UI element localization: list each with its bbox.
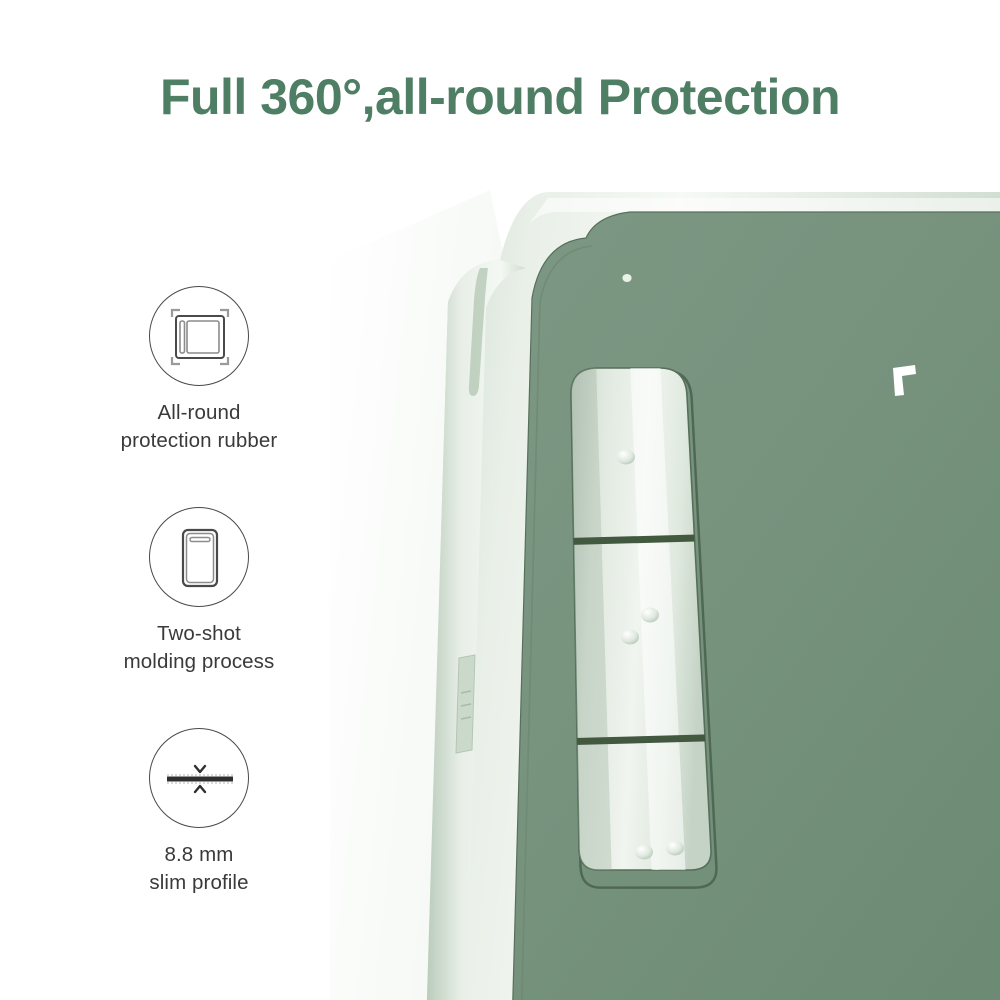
- tablet-portrait-icon: [149, 507, 249, 607]
- page-title: Full 360°,all-round Protection: [0, 68, 1000, 126]
- chevron-up-icon: [195, 786, 205, 792]
- camera-lens-3a: [635, 845, 653, 860]
- device-outer-shell: [183, 530, 217, 586]
- feature-list: All-round protection rubber Two-shot mol…: [88, 286, 310, 897]
- camera-lens-3b: [666, 841, 684, 856]
- camera-lens-2a: [641, 608, 659, 623]
- feature-label: 8.8 mm slim profile: [88, 841, 310, 897]
- thickness-bar: [167, 777, 233, 782]
- feature-label: All-round protection rubber: [88, 399, 310, 455]
- volume-button-cutout: [456, 655, 475, 753]
- feature-item-slim-profile: 8.8 mm slim profile: [88, 728, 310, 897]
- device-side-bar: [180, 321, 185, 353]
- feature-item-all-round-protection: All-round protection rubber: [88, 286, 310, 455]
- product-image: [330, 150, 1000, 1000]
- tablet-landscape-brackets-icon: [149, 286, 249, 386]
- feature-label-line2: molding process: [88, 648, 310, 676]
- device-speaker-slot: [190, 538, 210, 542]
- feature-item-two-shot-molding: Two-shot molding process: [88, 507, 310, 676]
- device-screen: [187, 321, 219, 353]
- camera-lens-1: [617, 450, 635, 465]
- feature-label-line1: Two-shot: [157, 622, 241, 645]
- slim-profile-thickness-icon: [149, 728, 249, 828]
- sensor-dot: [622, 274, 631, 282]
- feature-label-line2: protection rubber: [88, 427, 310, 455]
- chevron-down-icon: [195, 766, 205, 772]
- tablet-case-render: [330, 150, 1000, 1000]
- feature-label: Two-shot molding process: [88, 620, 310, 676]
- feature-label-line1: 8.8 mm: [165, 843, 234, 866]
- camera-lens-2b: [621, 630, 639, 645]
- feature-label-line2: slim profile: [88, 869, 310, 897]
- feature-label-line1: All-round: [158, 401, 241, 424]
- device-outline: [176, 316, 224, 358]
- product-feature-graphic: Full 360°,all-round Protection: [0, 0, 1000, 1000]
